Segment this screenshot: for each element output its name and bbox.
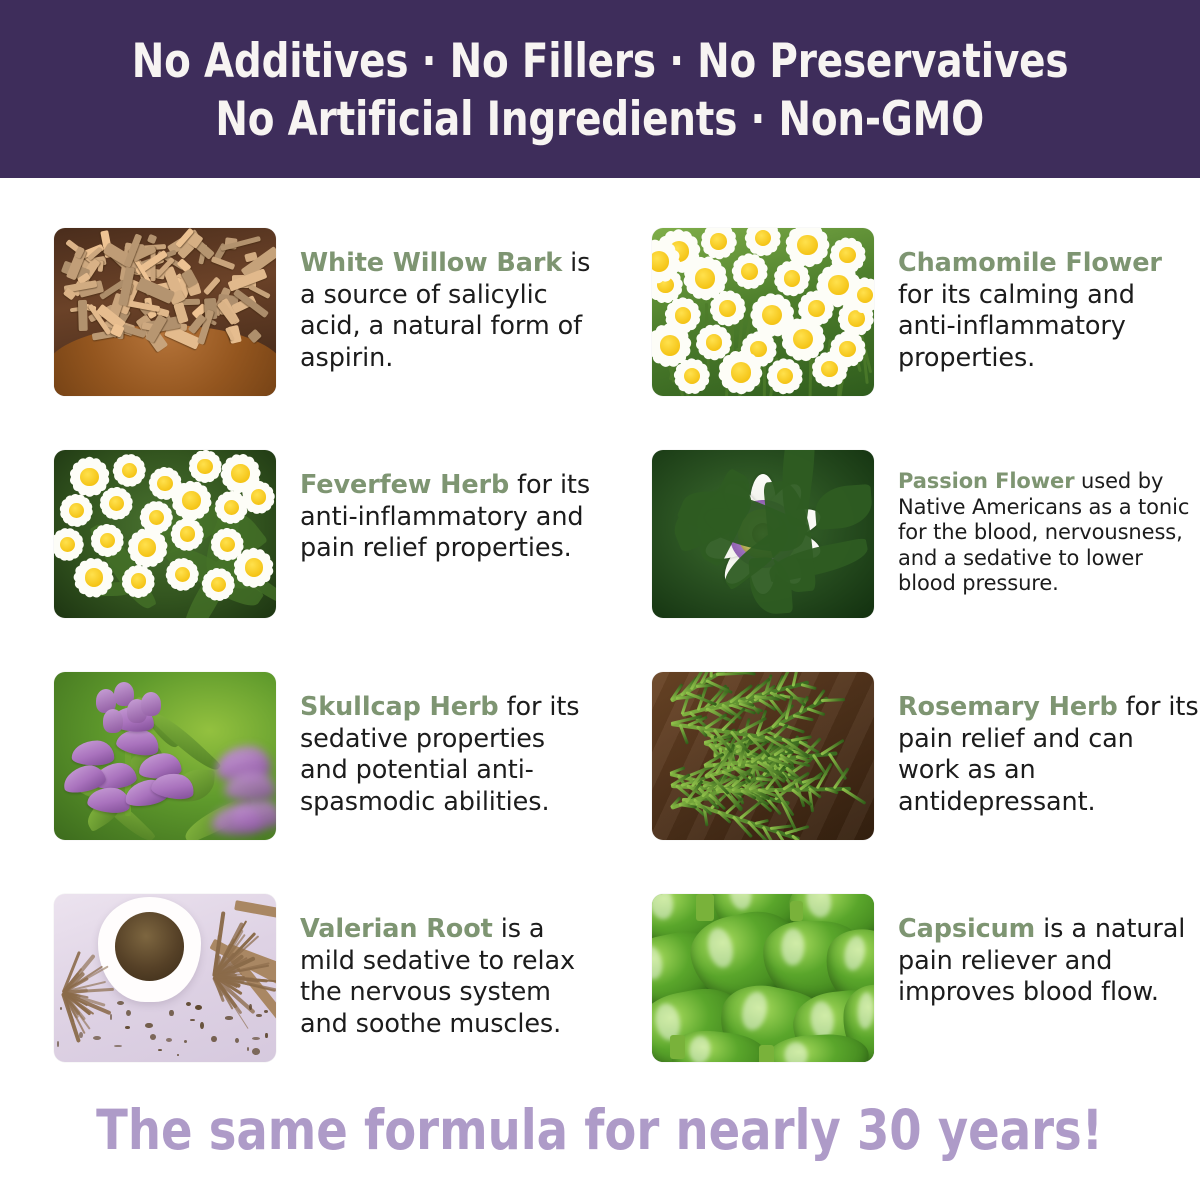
capsicum-image (652, 894, 874, 1062)
ingredient-card-feverfew-herb: Feverfew Herb for its anti-inflammatory … (0, 450, 600, 672)
ingredient-row: Feverfew Herb for its anti-inflammatory … (0, 450, 1200, 672)
ingredient-name: Feverfew Herb (300, 470, 509, 500)
ingredient-card-chamomile-flower: Chamomile Flower for its calming and ant… (600, 228, 1200, 450)
footer-tagline-bar: The same formula for nearly 30 years! (0, 1090, 1200, 1170)
ingredient-card-rosemary-herb: Rosemary Herb for its pain relief and ca… (600, 672, 1200, 894)
passion-flower-image (652, 450, 874, 618)
ingredient-row: Valerian Root is a mild sedative to rela… (0, 894, 1200, 1116)
ingredient-grid: White Willow Bark is a source of salicyl… (0, 178, 1200, 1078)
skullcap-herb-image (54, 672, 276, 840)
rosemary-herb-image (652, 672, 874, 840)
ingredient-card-passion-flower: Passion Flower used by Native Americans … (600, 450, 1200, 672)
ingredient-text: Rosemary Herb for its pain relief and ca… (898, 672, 1200, 894)
ingredient-text: Valerian Root is a mild sedative to rela… (300, 894, 600, 1116)
ingredient-card-white-willow-bark: White Willow Bark is a source of salicyl… (0, 228, 600, 450)
ingredient-name: Skullcap Herb (300, 692, 499, 722)
ingredient-card-valerian-root: Valerian Root is a mild sedative to rela… (0, 894, 600, 1116)
ingredient-card-skullcap-herb: Skullcap Herb for its sedative propertie… (0, 672, 600, 894)
ingredient-text: White Willow Bark is a source of salicyl… (300, 228, 600, 450)
white-willow-bark-image (54, 228, 276, 396)
header-line-1: No Additives · No Fillers · No Preservat… (132, 33, 1069, 91)
ingredient-row: White Willow Bark is a source of salicyl… (0, 228, 1200, 450)
ingredient-card-capsicum: Capsicum is a natural pain reliever and … (600, 894, 1200, 1116)
ingredient-name: Chamomile Flower (898, 248, 1162, 278)
ingredient-text: Skullcap Herb for its sedative propertie… (300, 672, 600, 894)
ingredient-name: Rosemary Herb (898, 692, 1118, 722)
chamomile-flower-image (652, 228, 874, 396)
header-line-2: No Artificial Ingredients · Non-GMO (216, 91, 985, 149)
feverfew-herb-image (54, 450, 276, 618)
header-banner: No Additives · No Fillers · No Preservat… (0, 0, 1200, 178)
footer-tagline: The same formula for nearly 30 years! (97, 1100, 1104, 1160)
ingredient-row: Skullcap Herb for its sedative propertie… (0, 672, 1200, 894)
ingredient-description: for its calming and anti-inflammatory pr… (898, 280, 1135, 373)
ingredient-text: Capsicum is a natural pain reliever and … (898, 894, 1200, 1116)
ingredient-name: Passion Flower (898, 469, 1074, 493)
ingredient-infographic: No Additives · No Fillers · No Preservat… (0, 0, 1200, 1200)
ingredient-text: Passion Flower used by Native Americans … (898, 450, 1200, 672)
ingredient-name: Capsicum (898, 914, 1035, 944)
ingredient-name: White Willow Bark (300, 248, 562, 278)
ingredient-text: Chamomile Flower for its calming and ant… (898, 228, 1200, 450)
ingredient-text: Feverfew Herb for its anti-inflammatory … (300, 450, 600, 672)
ingredient-name: Valerian Root (300, 914, 493, 944)
valerian-root-image (54, 894, 276, 1062)
